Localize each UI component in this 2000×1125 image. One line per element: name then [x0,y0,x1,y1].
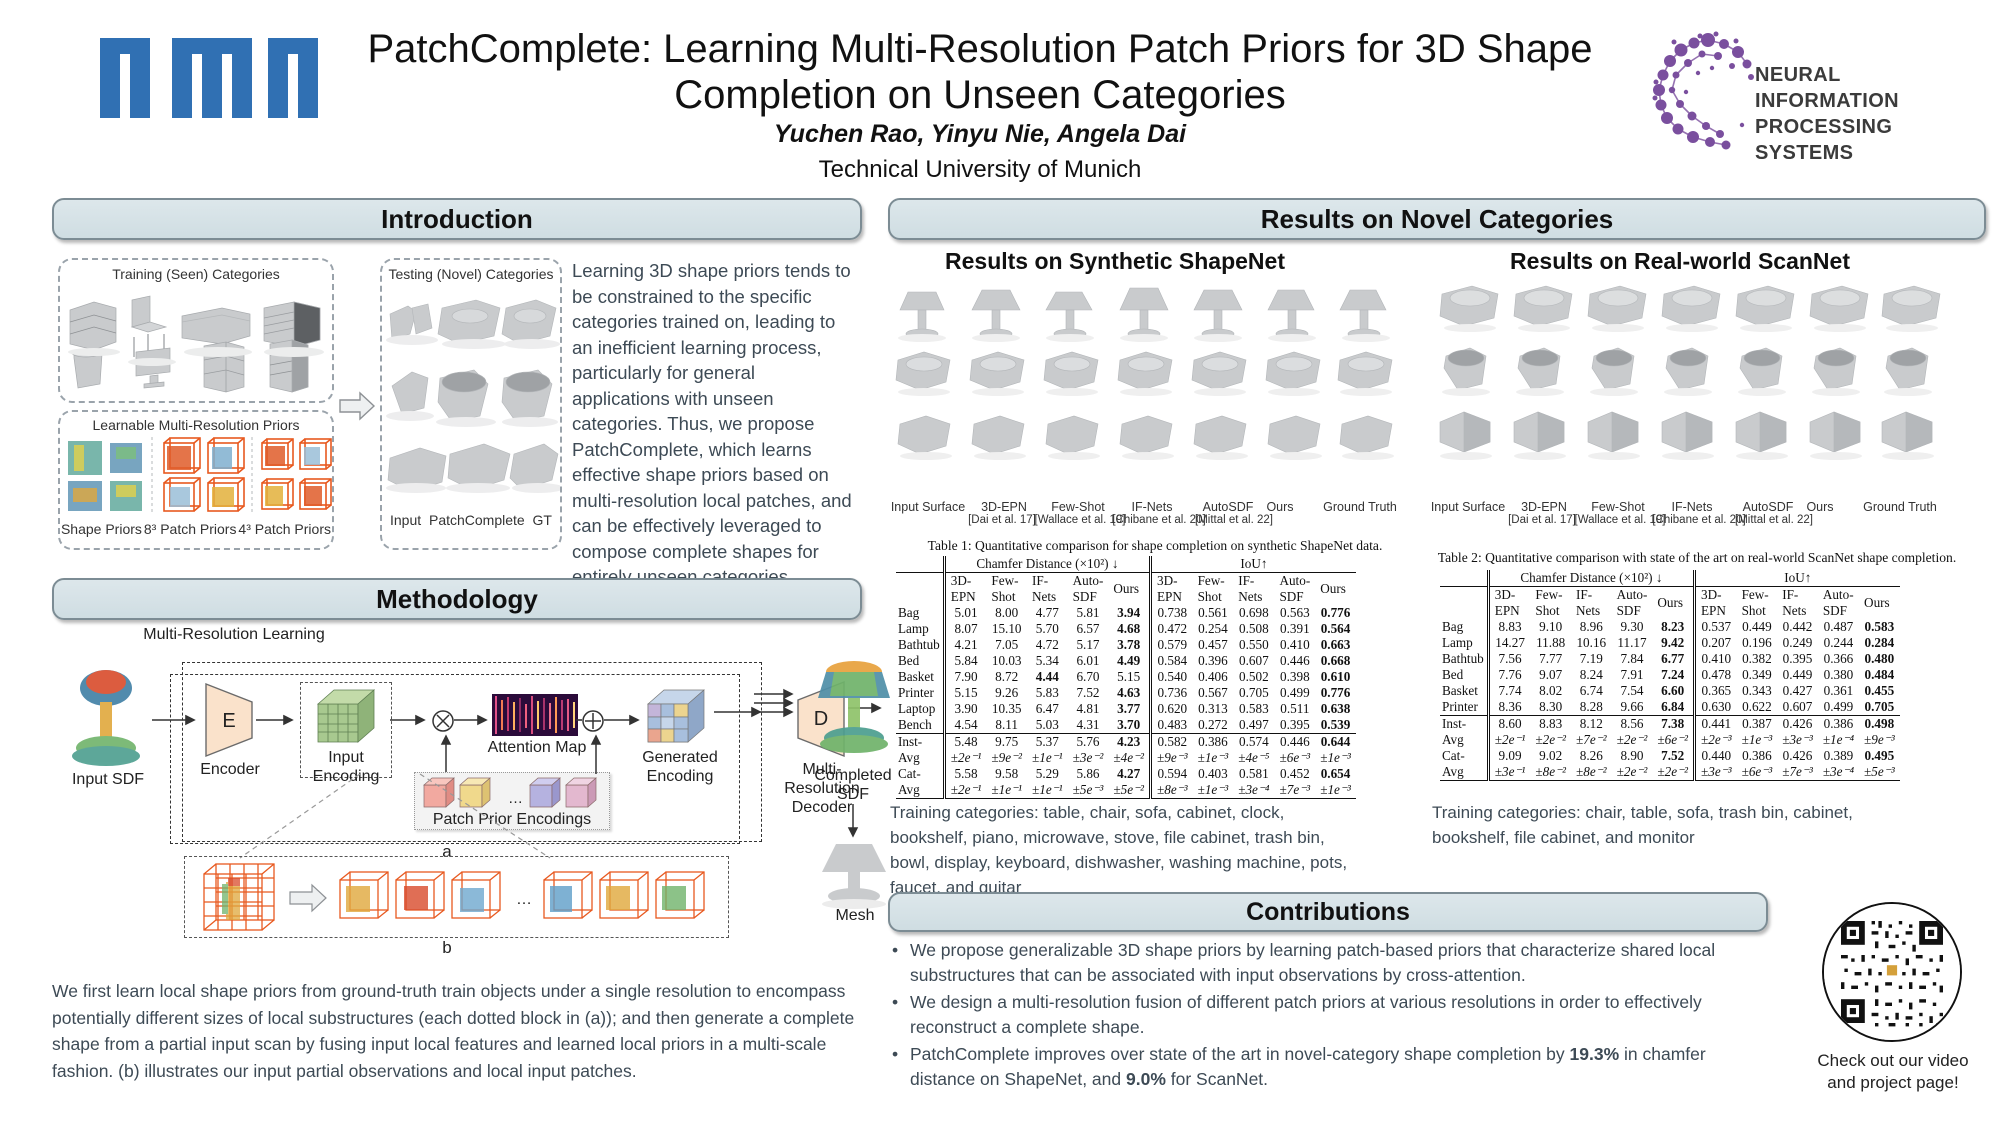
table-cell: 5.34 [1027,653,1068,669]
table-cell: 0.508 [1233,621,1274,637]
summary-error-cell: ±6e⁻² [1652,732,1694,748]
section-title-contributions: Contributions [1246,898,1410,927]
table-cell: 6.70 [1068,669,1109,685]
row-header: Bag [896,605,944,621]
summary-cell: 8.12 [1571,716,1612,733]
table-cell: 0.254 [1193,621,1234,637]
arrow-priors-to-add [589,732,603,776]
summary-cell: 0.644 [1315,734,1356,751]
shapenet-training-categories: Training categories: table, chair, sofa,… [890,800,1350,900]
scannet-qualitative-grid [1428,274,1948,484]
group-header-iou: IoU↑ [1150,556,1355,573]
summary-error-cell: ±5e⁻³ [1859,764,1900,781]
summary-row-header: Inst- [1440,716,1488,733]
shapenet-col-ours: Ours [1250,500,1310,514]
input-encoding-cube [310,684,386,750]
summary-cell: 9.02 [1530,748,1571,764]
table-cell: 10.35 [986,701,1027,717]
summary-cell: 5.58 [944,766,986,782]
table-cell: 11.88 [1530,635,1571,651]
summary-cell: 0.426 [1777,748,1818,764]
introduction-paragraph: Learning 3D shape priors tends to be con… [572,258,852,590]
prior-label-shape: Shape Priors [61,521,142,537]
summary-cell: 0.386 [1737,748,1778,764]
table-cell: 0.610 [1315,669,1356,685]
neurips-line-2: PROCESSING SYSTEMS [1755,116,1892,164]
table-cell: 3.90 [944,701,986,717]
row-header: Lamp [1440,635,1488,651]
summary-error-cell: ±1e⁻¹ [1027,750,1068,766]
row-header: Bathtub [1440,651,1488,667]
panel-b-patches: … [198,860,718,936]
qr-caption-line2: and project page! [1827,1073,1958,1092]
column-header: Ours [1652,587,1694,620]
summary-row-header-2: Avg [896,750,944,766]
table1: Chamfer Distance (×10²) ↓IoU↑3D-EPNFew-S… [896,556,1356,799]
table-cell: 0.499 [1818,699,1859,716]
summary-cell: 0.387 [1737,716,1778,733]
table-cell: 8.24 [1571,667,1612,683]
summary-error-cell: ±2e⁻¹ [944,782,986,799]
table-row: Bathtub4.217.054.725.173.780.5790.4570.5… [896,637,1356,653]
table-cell: 0.365 [1694,683,1736,699]
row-header: Basket [1440,683,1488,699]
table-cell: 0.478 [1694,667,1736,683]
learnable-priors-title: Learnable Multi-Resolution Priors [60,417,332,433]
table-row: Basket7.908.724.446.705.150.5400.4060.50… [896,669,1356,685]
completed-sdf-label: Completed SDF [804,766,902,804]
qr-caption-line1: Check out our video [1817,1051,1968,1070]
summary-cell: 0.582 [1150,734,1192,751]
table-cell: 0.427 [1777,683,1818,699]
table-cell: 0.663 [1315,637,1356,653]
summary-error-cell: ±7e⁻³ [1274,782,1315,799]
table-cell: 3.70 [1108,717,1150,734]
table-cell: 9.10 [1530,619,1571,635]
summary-error-cell: ±2e⁻¹ [944,750,986,766]
encoder-block: E [202,680,258,760]
table-cell: 0.449 [1737,619,1778,635]
arrow-encoder-encoding [256,712,300,728]
testing-col-gt: GT [533,512,552,528]
summary-error-cell: ±5e⁻³ [1068,782,1109,799]
summary-error-cell: ±7e⁻² [1571,732,1612,748]
summary-error-cell: ±3e⁻³ [1777,732,1818,748]
summary-cell: 5.29 [1027,766,1068,782]
group-header-chamfer: Chamfer Distance (×10²) ↓ [944,556,1150,573]
arrow-mul-attention [454,712,494,728]
column-header: 3D-EPN [1694,587,1736,620]
testing-col-patchcomplete: PatchComplete [429,512,525,528]
table-cell: 4.68 [1108,621,1150,637]
column-header: Ours [1108,573,1150,606]
row-header: Bed [1440,667,1488,683]
summary-error-cell: ±1e⁻³ [1193,782,1234,799]
table-cell: 8.72 [986,669,1027,685]
group-header-chamfer: Chamfer Distance (×10²) ↓ [1488,570,1694,587]
summary-cell: 8.83 [1530,716,1571,733]
row-header: Lamp [896,621,944,637]
table-cell: 14.27 [1488,635,1530,651]
table-cell: 3.77 [1108,701,1150,717]
column-header: Few-Shot [1193,573,1234,606]
column-header: IF-Nets [1027,573,1068,606]
summary-row-header: Cat- [1440,748,1488,764]
table-cell: 5.17 [1068,637,1109,653]
summary-error-cell: ±7e⁻³ [1777,764,1818,781]
table-cell: 9.42 [1652,635,1694,651]
table-cell: 0.410 [1694,651,1736,667]
testing-col-input: Input [390,512,421,528]
row-header: Printer [1440,699,1488,716]
summary-cell: 0.426 [1777,716,1818,733]
table-cell: 8.00 [986,605,1027,621]
column-header: 3D-EPN [944,573,986,606]
summary-error-cell: ±1e⁻³ [1193,750,1234,766]
table-corner [896,556,944,573]
table-cell: 0.561 [1193,605,1234,621]
summary-cell: 9.58 [986,766,1027,782]
training-categories-panel: Training (Seen) Categories [58,258,334,403]
table-cell: 9.07 [1530,667,1571,683]
table-cell: 0.776 [1315,605,1356,621]
table-cell: 0.380 [1818,667,1859,683]
table-cell: 0.738 [1150,605,1192,621]
summary-cell: 7.38 [1652,716,1694,733]
input-sdf-render [62,662,154,772]
training-categories-title: Training (Seen) Categories [60,266,332,282]
neurips-logo: NEURAL INFORMATION PROCESSING SYSTEMS [1650,30,1960,150]
section-title-methodology: Methodology [376,584,538,615]
table-cell: 8.83 [1488,619,1530,635]
summary-cell: 5.76 [1068,734,1109,751]
table-cell: 8.36 [1488,699,1530,716]
completed-sdf-line1: Completed [814,767,891,784]
shapenet-col-gt: Ground Truth [1310,500,1410,514]
column-header: Auto-SDF [1818,587,1859,620]
summary-cell: 0.386 [1818,716,1859,733]
mesh-label: Mesh [810,906,900,925]
table-cell: 0.343 [1737,683,1778,699]
table-cell: 0.776 [1315,685,1356,701]
priors-figure [60,433,332,519]
row-header: Basket [896,669,944,685]
contribution-item: We design a multi-resolution fusion of d… [910,990,1772,1040]
table-cell: 4.31 [1068,717,1109,734]
column-header: 3D-EPN [1150,573,1192,606]
summary-error-cell: ±4e⁻⁵ [1233,750,1274,766]
table-cell: 3.78 [1108,637,1150,653]
poster-header: TUM PatchComplete: Learning Multi-Resolu… [0,0,2000,190]
table-row: Printer5.159.265.837.524.630.7360.5670.7… [896,685,1356,701]
arrows-to-decoder [714,688,798,736]
column-header: Few-Shot [1530,587,1571,620]
training-shapes-figure [60,282,332,394]
shapenet-qualitative-grid [888,274,1408,484]
table-row: Bed7.769.078.247.917.240.4780.3490.4490.… [1440,667,1900,683]
summary-error-cell: ±9e⁻³ [1859,732,1900,748]
summary-cell: 0.581 [1233,766,1274,782]
summary-error-cell: ±2e⁻² [1652,764,1694,781]
table-cell: 0.583 [1859,619,1900,635]
table-cell: 8.07 [944,621,986,637]
summary-error-cell: ±1e⁻¹ [986,782,1027,799]
shapenet-cite-mittal: [Mittal et al. 22] [1184,514,1284,526]
table-cell: 9.30 [1612,619,1653,635]
column-header: Ours [1859,587,1900,620]
table-cell: 7.24 [1652,667,1694,683]
arrow-encoding-mul [390,712,432,728]
svg-text:E: E [222,710,235,732]
table-cell: 0.442 [1777,619,1818,635]
panel-link-lines [170,772,730,862]
table-cell: 0.620 [1150,701,1192,717]
scannet-heading: Results on Real-world ScanNet [1430,248,1930,275]
table-cell: 7.56 [1488,651,1530,667]
table-cell: 7.76 [1488,667,1530,683]
input-sdf-label: Input SDF [60,770,156,789]
row-header: Laptop [896,701,944,717]
table-cell: 0.630 [1694,699,1736,716]
summary-cell: 0.446 [1274,734,1315,751]
row-header: Bag [1440,619,1488,635]
table-row: Lamp8.0715.105.706.574.680.4720.2540.508… [896,621,1356,637]
table-cell: 0.550 [1233,637,1274,653]
summary-error-cell: ±3e⁻² [1068,750,1109,766]
table-cell: 0.698 [1233,605,1274,621]
table-cell: 0.537 [1694,619,1736,635]
table-cell: 6.60 [1652,683,1694,699]
summary-error-cell: ±1e⁻¹ [1027,782,1068,799]
table-group-header-row: Chamfer Distance (×10²) ↓IoU↑ [896,556,1356,573]
table-row: Lamp14.2711.8810.1611.179.420.2070.1960.… [1440,635,1900,651]
table-cell: 5.81 [1068,605,1109,621]
qr-code[interactable] [1822,902,1962,1042]
summary-error-cell: ±1e⁻³ [1737,732,1778,748]
table-cell: 9.26 [986,685,1027,701]
table-cell: 6.01 [1068,653,1109,669]
table-cell: 7.05 [986,637,1027,653]
summary-error-cell: ±3e⁻³ [1694,764,1736,781]
table-cell: 0.539 [1315,717,1356,734]
summary-error-cell: ±4e⁻² [1108,750,1150,766]
shapenet-heading: Results on Synthetic ShapeNet [890,248,1340,275]
summary-row-header: Inst- [896,734,944,751]
table-cell: 0.446 [1274,653,1315,669]
table-cell: 4.63 [1108,685,1150,701]
summary-error-cell: ±3e⁻⁴ [1233,782,1274,799]
table-cell: 5.03 [1027,717,1068,734]
table-cell: 0.207 [1694,635,1736,651]
table-row: Basket7.748.026.747.546.600.3650.3430.42… [1440,683,1900,699]
summary-error-cell: ±1e⁻³ [1315,750,1356,766]
column-header: IF-Nets [1777,587,1818,620]
table-cell: 5.83 [1027,685,1068,701]
qr-caption: Check out our video and project page! [1790,1050,1996,1094]
table-cell: 9.66 [1612,699,1653,716]
summary-error-row: Avg±3e⁻¹±8e⁻²±8e⁻²±2e⁻²±2e⁻²±3e⁻³±6e⁻³±7… [1440,764,1900,781]
table-cell: 0.484 [1859,667,1900,683]
attention-map-label: Attention Map [482,738,592,757]
qr-code-pattern [1824,904,1960,1040]
table-cell: 5.01 [944,605,986,621]
column-header: Few-Shot [986,573,1027,606]
generated-encoding-line1: Generated [642,749,718,766]
table-cell: 0.511 [1274,701,1315,717]
table-cell: 0.567 [1193,685,1234,701]
table-cell: 0.366 [1818,651,1859,667]
summary-error-cell: ±1e⁻⁴ [1818,732,1859,748]
table-cell: 7.19 [1571,651,1612,667]
table-cell: 0.497 [1233,717,1274,734]
table-cell: 6.57 [1068,621,1109,637]
completed-sdf-line2: SDF [837,786,869,803]
section-title-introduction: Introduction [381,204,533,235]
column-header: IF-Nets [1233,573,1274,606]
summary-error-row: Avg±2e⁻¹±1e⁻¹±1e⁻¹±5e⁻³±5e⁻²±8e⁻³±1e⁻³±3… [896,782,1356,799]
table-cell: 5.84 [944,653,986,669]
summary-cell: 0.654 [1315,766,1356,782]
group-header-iou: IoU↑ [1694,570,1899,587]
table-cell: 0.563 [1274,605,1315,621]
poster-affiliation: Technical University of Munich [330,156,1630,184]
summary-error-cell: ±3e⁻¹ [1488,764,1530,781]
summary-error-cell: ±5e⁻² [1108,782,1150,799]
table-cell: 8.96 [1571,619,1612,635]
table-cell: 4.21 [944,637,986,653]
table-bottom-rule [1440,781,1900,782]
table-cell: 0.396 [1193,653,1234,669]
table-cell: 6.77 [1652,651,1694,667]
summary-cell: 0.403 [1193,766,1234,782]
table-cell: 0.398 [1274,669,1315,685]
intro-arrow-icon [338,390,378,424]
table-cell: 0.395 [1274,717,1315,734]
summary-cell: 0.440 [1694,748,1736,764]
table-cell: 7.54 [1612,683,1653,699]
table-cell: 0.607 [1233,653,1274,669]
testing-categories-panel: Testing (Novel) Categories [380,258,562,550]
summary-row-header: Cat- [896,766,944,782]
table-cell: 0.668 [1315,653,1356,669]
mesh-render [810,838,900,912]
column-header: Auto-SDF [1068,573,1109,606]
summary-error-cell: ±2e⁻¹ [1488,732,1530,748]
summary-error-cell: ±9e⁻² [986,750,1027,766]
summary-cell: 8.90 [1612,748,1653,764]
row-header: Bathtub [896,637,944,653]
summary-error-cell: ±2e⁻² [1530,732,1571,748]
table-group-header-row: Chamfer Distance (×10²) ↓IoU↑ [1440,570,1900,587]
table-cell: 4.77 [1027,605,1068,621]
table-cell: 0.705 [1859,699,1900,716]
summary-error-row: Avg±2e⁻¹±2e⁻²±7e⁻²±2e⁻²±6e⁻²±2e⁻³±1e⁻³±3… [1440,732,1900,748]
table-cell: 8.11 [986,717,1027,734]
table-cell: 3.94 [1108,605,1150,621]
summary-error-cell: ±2e⁻² [1612,732,1653,748]
table-cell: 7.74 [1488,683,1530,699]
neurips-dots-icon [1650,30,1760,150]
table-cell: 6.47 [1027,701,1068,717]
table-cell: 7.52 [1068,685,1109,701]
summary-error-cell: ±2e⁻³ [1694,732,1736,748]
section-banner-introduction: Introduction [52,198,862,240]
table-cell: 0.406 [1193,669,1234,685]
table-cell: 7.90 [944,669,986,685]
table-cell: 0.579 [1150,637,1192,653]
table-cell: 0.284 [1859,635,1900,651]
table-cell: 0.361 [1818,683,1859,699]
table-cell: 0.564 [1315,621,1356,637]
summary-error-cell: ±8e⁻² [1530,764,1571,781]
svg-text:…: … [516,891,532,908]
summary-row-header-2: Avg [1440,764,1488,781]
row-header: Printer [896,685,944,701]
table-cell: 0.583 [1233,701,1274,717]
summary-cell: 9.09 [1488,748,1530,764]
summary-cell: 4.27 [1108,766,1150,782]
table-cell: 0.705 [1233,685,1274,701]
summary-cell: 0.574 [1233,734,1274,751]
neurips-line-1: NEURAL INFORMATION [1755,64,1899,112]
table-cell: 4.81 [1068,701,1109,717]
summary-error-cell: ±6e⁻³ [1274,750,1315,766]
table-column-header-row: 3D-EPNFew-ShotIF-NetsAuto-SDFOurs3D-EPNF… [896,573,1356,606]
table-cell: 0.272 [1193,717,1234,734]
table-cell: 0.249 [1777,635,1818,651]
summary-cell: 4.23 [1108,734,1150,751]
summary-error-cell: ±8e⁻² [1571,764,1612,781]
table-cell: 0.410 [1274,637,1315,653]
methodology-figure: Multi-Resolution Learning Input SDF E En… [52,620,882,970]
table2-caption: Table 2: Quantitative comparison with st… [1432,550,1962,566]
table-cell: 0.638 [1315,701,1356,717]
completed-sdf-render [804,650,902,760]
column-header: Auto-SDF [1274,573,1315,606]
table-cell: 0.196 [1737,635,1778,651]
table-corner-2 [1440,587,1488,620]
summary-error-row: Avg±2e⁻¹±9e⁻²±1e⁻¹±3e⁻²±4e⁻²±9e⁻³±1e⁻³±4… [896,750,1356,766]
testing-categories-title: Testing (Novel) Categories [382,266,560,282]
table-corner [1440,570,1488,587]
column-header: Ours [1315,573,1356,606]
table-cell: 8.28 [1571,699,1612,716]
table-cell: 5.15 [1108,669,1150,685]
arrow-sdf-mesh [845,802,861,840]
table-cell: 7.84 [1612,651,1653,667]
table-cell: 0.487 [1818,619,1859,635]
table1-caption: Table 1: Quantitative comparison for sha… [890,538,1420,554]
section-banner-methodology: Methodology [52,578,862,620]
summary-cell: 7.52 [1652,748,1694,764]
neurips-wordmark: NEURAL INFORMATION PROCESSING SYSTEMS [1755,62,1960,166]
table-cell: 0.349 [1737,667,1778,683]
table-cell: 10.03 [986,653,1027,669]
summary-error-cell: ±8e⁻³ [1150,782,1192,799]
generated-encoding-cube [640,684,716,750]
contribution-item: We propose generalizable 3D shape priors… [910,938,1772,988]
table-cell: 0.502 [1233,669,1274,685]
table-row: Laptop3.9010.356.474.813.770.6200.3130.5… [896,701,1356,717]
table-cell: 0.736 [1150,685,1192,701]
table-cell: 4.44 [1027,669,1068,685]
summary-cell: 0.498 [1859,716,1900,733]
summary-cell: 0.594 [1150,766,1192,782]
table-cell: 8.23 [1652,619,1694,635]
summary-cell: 5.37 [1027,734,1068,751]
table-cell: 0.395 [1777,651,1818,667]
summary-cell: 0.441 [1694,716,1736,733]
